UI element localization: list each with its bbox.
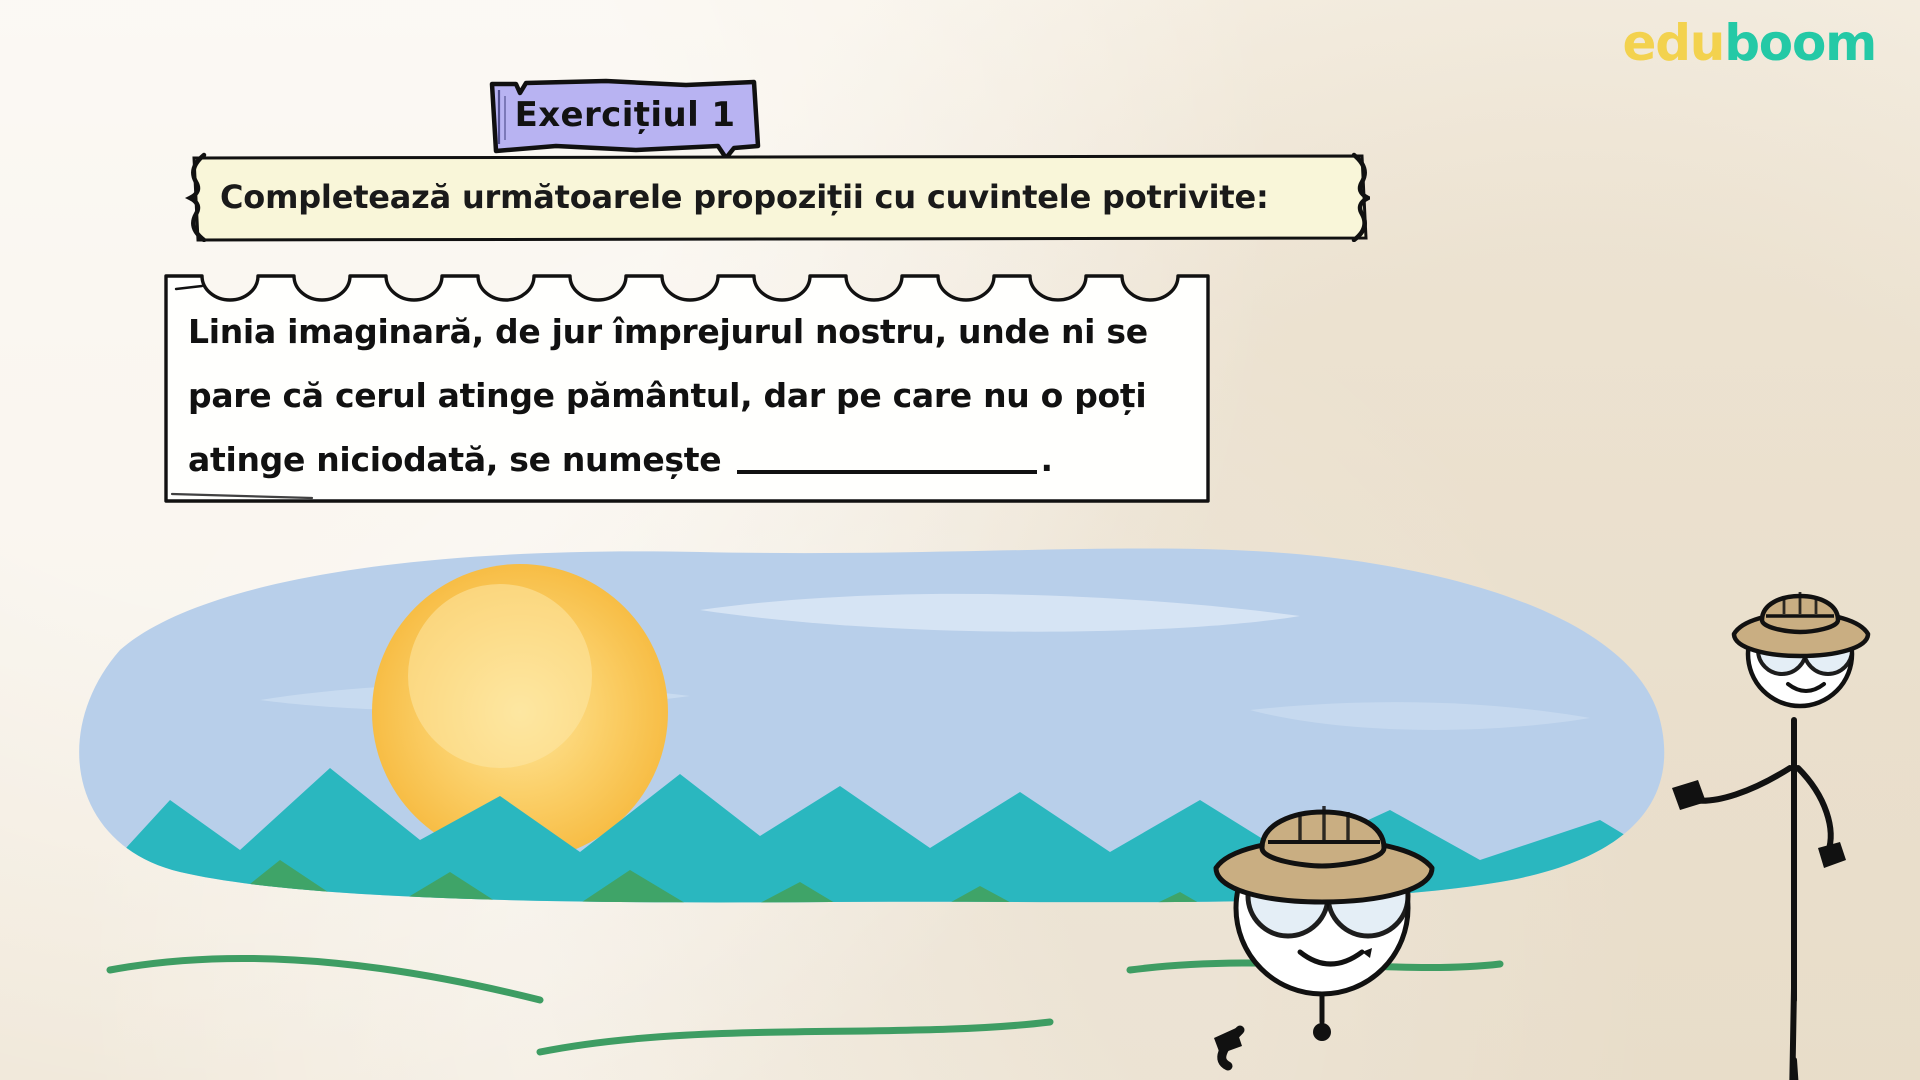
hand [1818, 842, 1846, 868]
sentence-text-part-1: Linia imaginară, de jur împrejurul nostr… [188, 312, 1148, 479]
sentence-text-part-2: . [1041, 440, 1053, 479]
badge-label: Exercițiul 1 [486, 76, 764, 160]
arm [1692, 768, 1790, 801]
sentence-text: Linia imaginară, de jur împrejurul nostr… [188, 300, 1190, 492]
sun-highlight [408, 584, 592, 768]
instruction-text: Completează următoarele propoziții cu cu… [220, 152, 1330, 242]
arm [1798, 768, 1831, 852]
logo-boom-text: boom [1724, 14, 1876, 72]
hand [1672, 780, 1706, 810]
explorer-standing-character [1672, 592, 1868, 1080]
logo-edu-text: edu [1623, 14, 1725, 72]
landscape-illustration [0, 500, 1920, 1080]
answer-blank[interactable] [737, 470, 1037, 474]
ground-line [540, 1022, 1050, 1052]
sky-blob [0, 500, 1920, 1080]
instruction-banner: Completează următoarele propoziții cu cu… [174, 152, 1370, 242]
exercise-badge: Exercițiul 1 [486, 76, 764, 160]
eduboom-logo: eduboom [1623, 14, 1877, 72]
sentence-card: Linia imaginară, de jur împrejurul nostr… [162, 262, 1212, 505]
ground-line [110, 958, 540, 1000]
